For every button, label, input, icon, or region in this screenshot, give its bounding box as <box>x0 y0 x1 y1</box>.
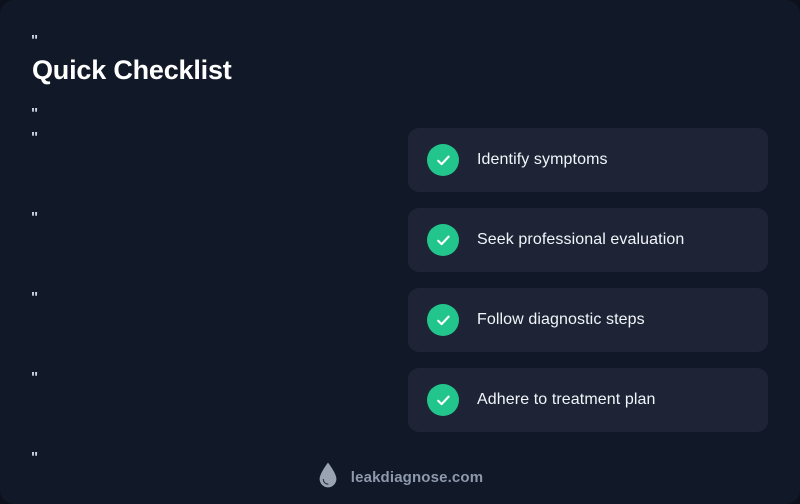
quote-artifact: " <box>31 130 38 145</box>
quote-artifact: " <box>31 370 38 385</box>
checklist-item[interactable]: Identify symptoms <box>408 128 768 192</box>
slide-canvas: " " " " " " " Quick Checklist Identify s… <box>0 0 800 504</box>
checklist-item[interactable]: Adhere to treatment plan <box>408 368 768 432</box>
checklist-item[interactable]: Follow diagnostic steps <box>408 288 768 352</box>
check-icon <box>427 384 459 416</box>
quote-artifact: " <box>31 210 38 225</box>
checklist-item[interactable]: Seek professional evaluation <box>408 208 768 272</box>
footer-brand: leakdiagnose.com <box>0 461 800 494</box>
check-icon <box>427 304 459 336</box>
brand-name: leakdiagnose.com <box>351 470 483 485</box>
quote-artifact: " <box>31 33 38 48</box>
checklist-item-label: Follow diagnostic steps <box>477 310 645 329</box>
quote-artifact: " <box>31 106 38 121</box>
checklist-item-label: Seek professional evaluation <box>477 230 684 249</box>
quote-artifact: " <box>31 290 38 305</box>
checklist-item-label: Identify symptoms <box>477 150 608 169</box>
page-title: Quick Checklist <box>32 55 232 85</box>
check-icon <box>427 224 459 256</box>
water-droplet-icon <box>317 461 339 494</box>
check-icon <box>427 144 459 176</box>
checklist-item-label: Adhere to treatment plan <box>477 390 656 409</box>
checklist: Identify symptoms Seek professional eval… <box>408 128 768 432</box>
